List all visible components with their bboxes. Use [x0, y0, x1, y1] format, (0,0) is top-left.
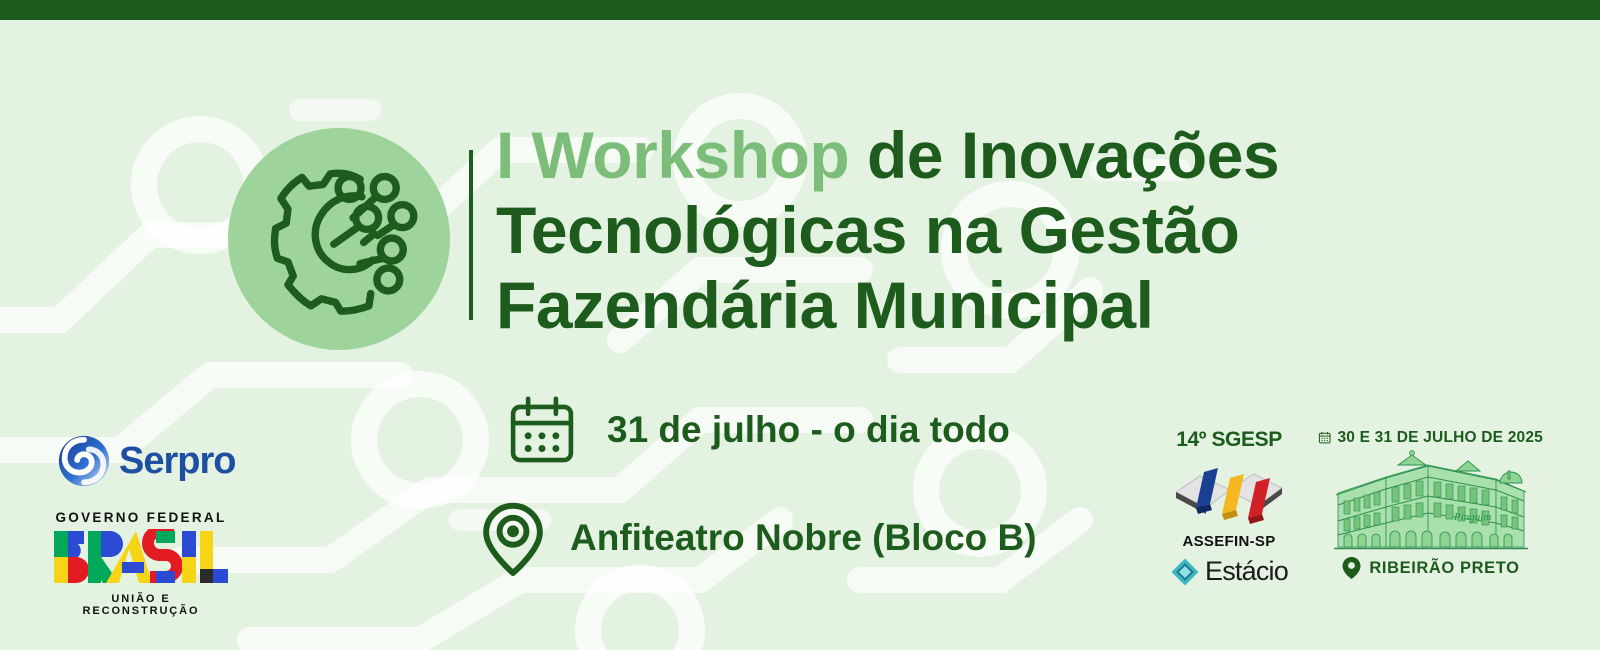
governo-federal-top-label: GOVERNO FEDERAL [52, 510, 230, 525]
top-accent-bar [0, 0, 1600, 20]
gear-circuit-badge [228, 128, 450, 350]
event-date-text: 31 de julho - o dia todo [607, 409, 1010, 451]
sgesp-block: 14º SGESP ASSEFIN-SP [1163, 428, 1295, 587]
estacio-logo: Estácio [1163, 556, 1295, 587]
title-divider [469, 150, 473, 320]
brasil-mark [52, 529, 230, 590]
open-book-icon [1163, 458, 1295, 529]
title-line-3: Fazendária Municipal [496, 268, 1396, 343]
event-place-text: Anfiteatro Nobre (Bloco B) [570, 517, 1037, 559]
pinguim-building-illustration: Pinguim [1318, 449, 1543, 555]
page-title: I Workshop de Inovações Tecnológicas na … [496, 118, 1396, 343]
venue-city-row: RIBEIRÃO PRETO [1318, 556, 1543, 580]
governo-federal-logo: GOVERNO FEDERAL [52, 510, 230, 617]
event-banner: I Workshop de Inovações Tecnológicas na … [0, 0, 1600, 650]
assefin-label: ASSEFIN-SP [1163, 533, 1295, 550]
sgesp-title: 14º SGESP [1163, 428, 1295, 452]
title-line-2: Tecnológicas na Gestão [496, 193, 1396, 268]
venue-date-row: 30 E 31 DE JULHO DE 2025 [1318, 428, 1543, 447]
event-place-row: Anfiteatro Nobre (Bloco B) [470, 495, 1037, 581]
building-sign-text: Pinguim [1453, 511, 1491, 523]
serpro-wordmark: Serpro [119, 440, 235, 483]
estacio-diamond-icon [1170, 557, 1200, 587]
serpro-logo: Serpro [55, 432, 235, 490]
event-date-row: 31 de julho - o dia todo [505, 393, 1010, 467]
venue-date-text: 30 E 31 DE JULHO DE 2025 [1337, 429, 1543, 447]
calendar-small-icon [1318, 428, 1331, 447]
title-line-1: I Workshop de Inovações [496, 118, 1396, 193]
title-highlight: I Workshop [496, 118, 849, 192]
governo-federal-bottom-label: UNIÃO E RECONSTRUÇÃO [52, 593, 230, 617]
calendar-icon [505, 393, 579, 467]
map-pin-small-icon [1341, 556, 1362, 580]
gear-circuit-icon [251, 151, 427, 327]
estacio-wordmark: Estácio [1205, 556, 1288, 587]
title-rest: de Inovações [849, 118, 1279, 192]
map-pin-icon [470, 495, 556, 581]
venue-block: 30 E 31 DE JULHO DE 2025 [1318, 428, 1543, 580]
venue-city-text: RIBEIRÃO PRETO [1369, 559, 1519, 578]
serpro-swirl-icon [55, 432, 113, 490]
